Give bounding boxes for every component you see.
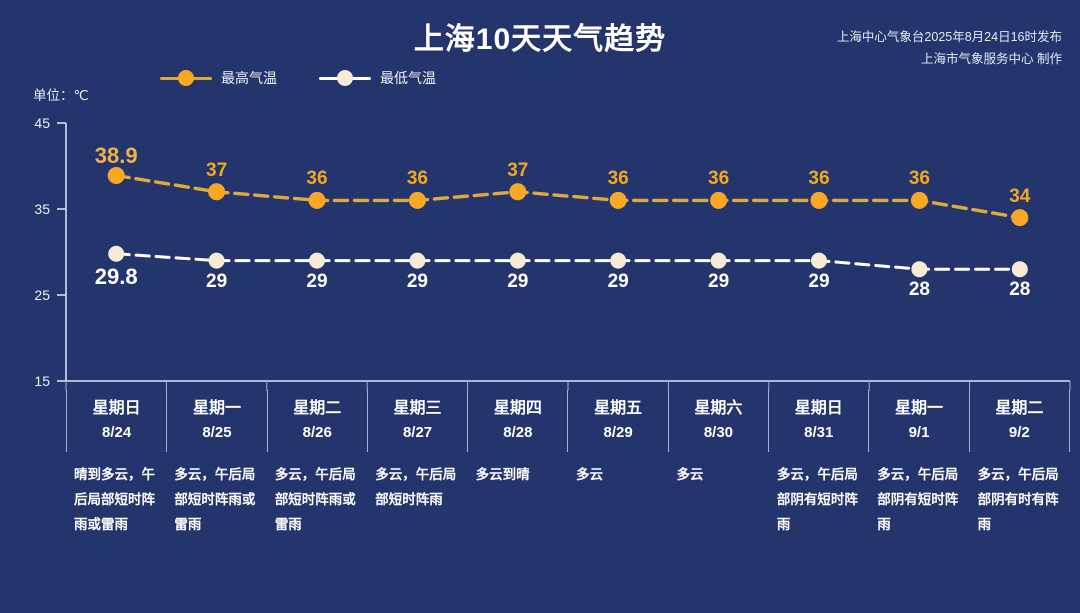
date-label: 8/31 [769, 421, 868, 444]
high-temp-label: 37 [206, 160, 227, 182]
legend-low-swatch-icon [319, 70, 371, 86]
low-temp-label: 29 [507, 271, 528, 293]
date-label: 8/27 [368, 421, 467, 444]
high-temp-label: 38.9 [95, 143, 138, 169]
low-temp-label: 29.8 [95, 264, 138, 290]
publisher-line-1: 上海中心气象台2025年8月24日16时发布 [837, 26, 1062, 48]
publisher-info: 上海中心气象台2025年8月24日16时发布 上海市气象服务中心 制作 [837, 26, 1062, 70]
day-column-header[interactable]: 星期三8/27 [367, 390, 467, 452]
legend-item-low: 最低气温 [319, 68, 436, 88]
high-temp-label: 36 [608, 168, 629, 190]
weekday-label: 星期日 [769, 396, 868, 421]
weather-description: 多云，午后局部阴有短时阵雨 [869, 462, 969, 537]
high-temp-label: 36 [708, 168, 729, 190]
date-label: 8/26 [268, 421, 367, 444]
day-header-row: 星期日8/24星期一8/25星期二8/26星期三8/27星期四8/28星期五8/… [66, 390, 1070, 452]
weekday-label: 星期日 [67, 396, 166, 421]
weather-description: 多云，午后局部短时阵雨 [367, 462, 467, 537]
date-label: 8/29 [568, 421, 667, 444]
weather-description: 多云 [568, 462, 668, 537]
weather-description: 晴到多云，午后局部短时阵雨或雷雨 [66, 462, 166, 537]
weather-trend-chart: 上海10天天气趋势 上海中心气象台2025年8月24日16时发布 上海市气象服务… [0, 0, 1080, 613]
day-column-header[interactable]: 星期一9/1 [868, 390, 968, 452]
y-axis-tick-label: 35 [18, 201, 50, 217]
high-temp-label: 36 [306, 168, 327, 190]
legend-item-high: 最高气温 [160, 68, 277, 88]
low-temp-label: 28 [1009, 279, 1030, 301]
weekday-label: 星期三 [368, 396, 467, 421]
unit-label: 单位：℃ [33, 84, 89, 104]
legend-high-label: 最高气温 [221, 68, 277, 88]
high-temp-label: 36 [909, 168, 930, 190]
day-column-header[interactable]: 星期四8/28 [467, 390, 567, 452]
legend-high-swatch-icon [160, 70, 212, 86]
weather-description: 多云，午后局部短时阵雨或雷雨 [267, 462, 367, 537]
legend-low-label: 最低气温 [380, 68, 436, 88]
low-temp-label: 29 [608, 271, 629, 293]
weekday-label: 星期六 [669, 396, 768, 421]
weekday-label: 星期五 [568, 396, 667, 421]
weather-description: 多云，午后局部阴有时有阵雨 [970, 462, 1070, 537]
date-label: 8/24 [67, 421, 166, 444]
low-temp-label: 29 [808, 271, 829, 293]
weekday-label: 星期四 [468, 396, 567, 421]
date-label: 9/2 [970, 421, 1069, 444]
day-column-header[interactable]: 星期五8/29 [567, 390, 667, 452]
weekday-label: 星期一 [167, 396, 266, 421]
weather-description: 多云到晴 [468, 462, 568, 537]
weekday-label: 星期二 [268, 396, 367, 421]
y-axis-tick-label: 25 [18, 287, 50, 303]
weather-description: 多云，午后局部短时阵雨或雷雨 [166, 462, 266, 537]
low-temp-label: 28 [909, 279, 930, 301]
day-column-header[interactable]: 星期二8/26 [267, 390, 367, 452]
weather-description: 多云，午后局部阴有短时阵雨 [769, 462, 869, 537]
y-axis-tick-label: 15 [18, 373, 50, 389]
day-column-header[interactable]: 星期一8/25 [166, 390, 266, 452]
weather-description: 多云 [668, 462, 768, 537]
low-temp-label: 29 [708, 271, 729, 293]
day-column-header[interactable]: 星期六8/30 [668, 390, 768, 452]
low-temp-label: 29 [206, 271, 227, 293]
date-label: 8/28 [468, 421, 567, 444]
day-column-header[interactable]: 星期日8/31 [768, 390, 868, 452]
high-temp-label: 37 [507, 160, 528, 182]
high-temp-label: 36 [808, 168, 829, 190]
date-label: 8/25 [167, 421, 266, 444]
day-column-header[interactable]: 星期日8/24 [66, 390, 166, 452]
day-description-row: 晴到多云，午后局部短时阵雨或雷雨多云，午后局部短时阵雨或雷雨多云，午后局部短时阵… [66, 462, 1070, 537]
publisher-line-2: 上海市气象服务中心 制作 [837, 48, 1062, 70]
date-label: 8/30 [669, 421, 768, 444]
low-temp-label: 29 [407, 271, 428, 293]
weekday-label: 星期一 [869, 396, 968, 421]
high-temp-label: 34 [1009, 186, 1030, 208]
day-column-header[interactable]: 星期二9/2 [969, 390, 1070, 452]
high-temp-label: 36 [407, 168, 428, 190]
date-label: 9/1 [869, 421, 968, 444]
low-temp-label: 29 [306, 271, 327, 293]
y-axis-tick-label: 45 [18, 115, 50, 131]
chart-legend: 最高气温 最低气温 [160, 68, 436, 88]
weekday-label: 星期二 [970, 396, 1069, 421]
